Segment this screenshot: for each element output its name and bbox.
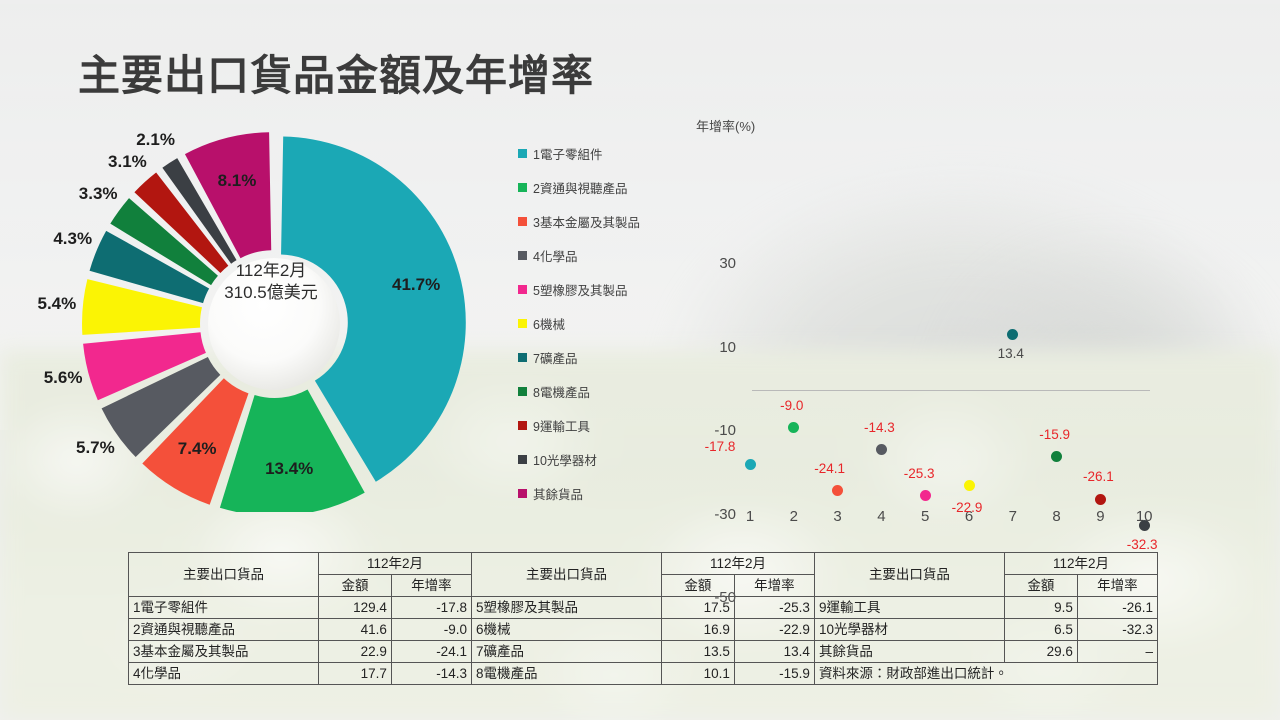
legend-swatch-icon [518,183,527,192]
table-cell-amount: 22.9 [319,641,392,663]
scatter-axis-title: 年增率(%) [696,116,755,135]
legend-item-label: 其餘貨品 [533,484,583,503]
table-cell-goods: 7礦產品 [471,641,661,663]
scatter-point [745,459,756,470]
donut-center-label: 112年2月 310.5億美元 [196,260,346,305]
table-header-rate: 年增率 [1077,575,1157,597]
legend-item-label: 7礦產品 [533,348,577,367]
scatter-point-label: -26.1 [1076,469,1120,484]
donut-slice-label: 2.1% [122,130,190,150]
legend-item-label: 9運輸工具 [533,416,590,435]
table-cell-rate: -14.3 [391,663,471,685]
scatter-point [832,485,843,496]
scatter-y-tick: 30 [696,255,736,272]
legend-item-label: 1電子零組件 [533,144,602,163]
donut-slice-label: 7.4% [163,439,231,459]
table-header-row: 主要出口貨品112年2月主要出口貨品112年2月主要出口貨品112年2月 [129,553,1158,575]
table-row: 1電子零組件129.4-17.85塑橡膠及其製品17.5-25.39運輸工具9.… [129,597,1158,619]
table-header-goods: 主要出口貨品 [814,553,1004,597]
table-cell-amount: 6.5 [1004,619,1077,641]
scatter-point [1095,494,1106,505]
table-cell-amount: 17.5 [661,597,734,619]
table-header-goods: 主要出口貨品 [471,553,661,597]
legend-swatch-icon [518,149,527,158]
scatter-chart: 年增率(%) 3010-10-30-50 12345678910 -17.8-9… [690,108,1170,538]
donut-center-line1: 112年2月 [196,260,346,282]
scatter-point-label: -22.9 [945,500,989,515]
scatter-point-label: -24.1 [808,461,852,476]
scatter-point-label: -9.0 [770,398,814,413]
scatter-y-tick: -30 [696,506,736,523]
table-header-rate: 年增率 [391,575,471,597]
table-header-amount: 金額 [1004,575,1077,597]
donut-slice-label: 5.7% [61,438,129,458]
scatter-point [964,480,975,491]
table-source-note: 資料來源：財政部進出口統計。 [814,663,1157,685]
donut-slice-label: 5.6% [29,368,97,388]
legend-item[interactable]: 10光學器材 [518,442,698,476]
table-cell-goods: 5塑橡膠及其製品 [471,597,661,619]
scatter-y-tick: 10 [696,339,736,356]
table-row: 4化學品17.7-14.38電機產品10.1-15.9資料來源：財政部進出口統計… [129,663,1158,685]
table-cell-rate: -22.9 [734,619,814,641]
legend-item[interactable]: 5塑橡膠及其製品 [518,272,698,306]
legend-item[interactable]: 8電機產品 [518,374,698,408]
scatter-point-label: -15.9 [1033,427,1077,442]
legend-item-label: 2資通與視聽產品 [533,178,627,197]
table-cell-amount: 41.6 [319,619,392,641]
table-cell-amount: 10.1 [661,663,734,685]
table-row: 2資通與視聽產品41.6-9.06機械16.9-22.910光學器材6.5-32… [129,619,1158,641]
scatter-x-tick: 5 [912,508,938,525]
legend-swatch-icon [518,251,527,260]
legend-item-label: 10光學器材 [533,450,597,469]
legend-item[interactable]: 7礦產品 [518,340,698,374]
table-header-goods: 主要出口貨品 [129,553,319,597]
table-header-amount: 金額 [319,575,392,597]
table-header-period: 112年2月 [319,553,472,575]
donut-slice-label: 13.4% [255,459,323,479]
donut-slice-label: 5.4% [23,294,91,314]
legend-swatch-icon [518,421,527,430]
table-cell-goods: 其餘貨品 [814,641,1004,663]
table-cell-rate: -26.1 [1077,597,1157,619]
legend-swatch-icon [518,319,527,328]
legend-item-label: 6機械 [533,314,565,333]
donut-slice-label: 3.1% [93,152,161,172]
donut-center-line2: 310.5億美元 [196,282,346,304]
scatter-zero-line [752,390,1150,391]
legend-swatch-icon [518,285,527,294]
table-header-amount: 金額 [661,575,734,597]
legend-swatch-icon [518,455,527,464]
table-cell-amount: 16.9 [661,619,734,641]
table-cell-goods: 2資通與視聽產品 [129,619,319,641]
table-cell-rate: -9.0 [391,619,471,641]
legend-swatch-icon [518,489,527,498]
table-cell-rate: – [1077,641,1157,663]
legend-item-label: 8電機產品 [533,382,590,401]
legend-item[interactable]: 6機械 [518,306,698,340]
donut-slice-label: 4.3% [39,229,107,249]
table-cell-rate: -24.1 [391,641,471,663]
scatter-point-label: -14.3 [857,420,901,435]
table-cell-goods: 10光學器材 [814,619,1004,641]
legend-swatch-icon [518,217,527,226]
table-header-period: 112年2月 [1004,553,1157,575]
export-goods-table: 主要出口貨品112年2月主要出口貨品112年2月主要出口貨品112年2月金額年增… [128,552,1158,685]
table-cell-rate: -25.3 [734,597,814,619]
table-header-rate: 年增率 [734,575,814,597]
legend-item-label: 3基本金屬及其製品 [533,212,640,231]
legend-swatch-icon [518,353,527,362]
scatter-x-tick: 2 [781,508,807,525]
legend-item-label: 5塑橡膠及其製品 [533,280,627,299]
donut-svg [78,112,498,512]
donut-chart: 41.7%13.4%7.4%5.7%5.6%5.4%4.3%3.3%3.1%2.… [78,112,498,512]
scatter-point [920,490,931,501]
table-cell-goods: 8電機產品 [471,663,661,685]
scatter-point [1007,329,1018,340]
table-cell-rate: -15.9 [734,663,814,685]
table-cell-amount: 17.7 [319,663,392,685]
table-cell-goods: 3基本金屬及其製品 [129,641,319,663]
donut-slice-label: 8.1% [203,171,271,191]
chart-legend: 1電子零組件2資通與視聽產品3基本金屬及其製品4化學品5塑橡膠及其製品6機械7礦… [518,136,698,510]
table-cell-goods: 6機械 [471,619,661,641]
scatter-point-label: -17.8 [698,439,742,454]
data-table: 主要出口貨品112年2月主要出口貨品112年2月主要出口貨品112年2月金額年增… [128,552,1158,685]
table-cell-goods: 4化學品 [129,663,319,685]
table-cell-amount: 129.4 [319,597,392,619]
scatter-x-tick: 4 [868,508,894,525]
scatter-point [788,422,799,433]
table-cell-amount: 13.5 [661,641,734,663]
scatter-point [1051,451,1062,462]
table-cell-amount: 9.5 [1004,597,1077,619]
scatter-x-tick: 3 [825,508,851,525]
scatter-point-label: -32.3 [1120,537,1164,552]
donut-slice-label: 41.7% [382,275,450,295]
legend-item[interactable]: 3基本金屬及其製品 [518,204,698,238]
table-header-period: 112年2月 [661,553,814,575]
legend-swatch-icon [518,387,527,396]
legend-item[interactable]: 其餘貨品 [518,476,698,510]
page-title: 主要出口貨品金額及年增率 [78,42,594,103]
table-cell-amount: 29.6 [1004,641,1077,663]
scatter-point [876,444,887,455]
table-cell-goods: 1電子零組件 [129,597,319,619]
scatter-y-tick: -10 [696,422,736,439]
donut-slice-label: 3.3% [64,184,132,204]
legend-item[interactable]: 1電子零組件 [518,136,698,170]
legend-item[interactable]: 2資通與視聽產品 [518,170,698,204]
scatter-x-tick: 9 [1087,508,1113,525]
scatter-point-label: 13.4 [989,346,1033,361]
scatter-x-tick: 8 [1044,508,1070,525]
legend-item[interactable]: 9運輸工具 [518,408,698,442]
table-cell-rate: 13.4 [734,641,814,663]
legend-item-label: 4化學品 [533,246,577,265]
table-cell-goods: 9運輸工具 [814,597,1004,619]
legend-item[interactable]: 4化學品 [518,238,698,272]
table-row: 3基本金屬及其製品22.9-24.17礦產品13.513.4其餘貨品29.6– [129,641,1158,663]
scatter-point-label: -25.3 [897,466,941,481]
table-cell-rate: -32.3 [1077,619,1157,641]
table-cell-rate: -17.8 [391,597,471,619]
scatter-x-tick: 7 [1000,508,1026,525]
scatter-x-tick: 1 [737,508,763,525]
scatter-point [1139,520,1150,531]
